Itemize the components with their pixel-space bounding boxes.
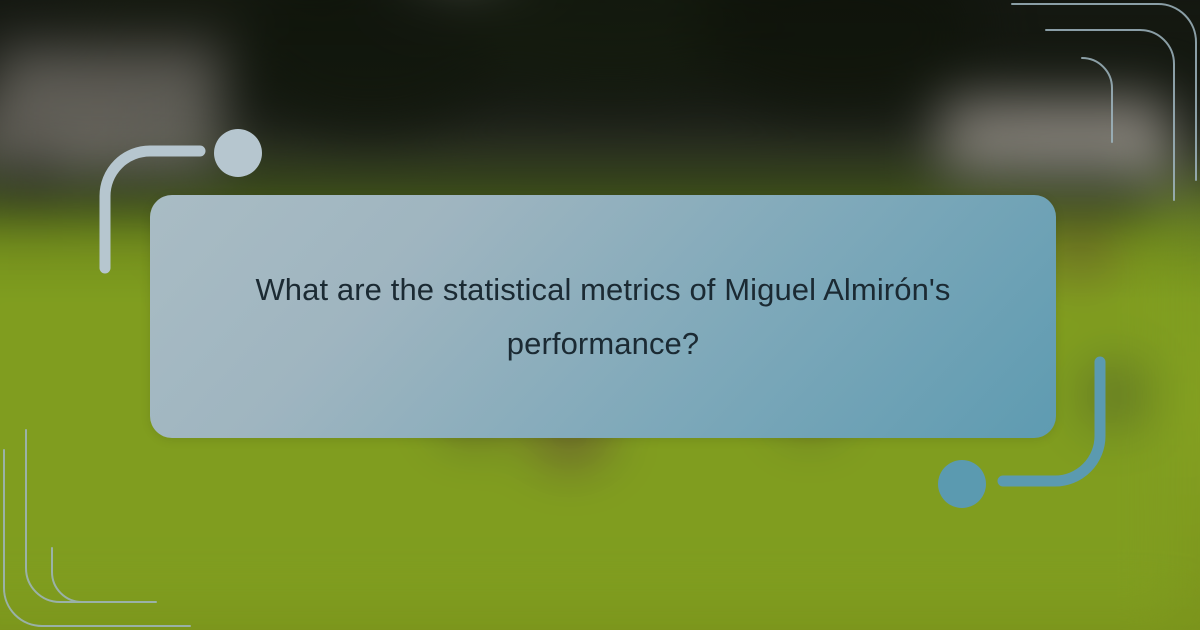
social-card-image: What are the statistical metrics of Migu… [0,0,1200,630]
question-text: What are the statistical metrics of Migu… [243,263,963,371]
question-card: What are the statistical metrics of Migu… [150,195,1056,438]
